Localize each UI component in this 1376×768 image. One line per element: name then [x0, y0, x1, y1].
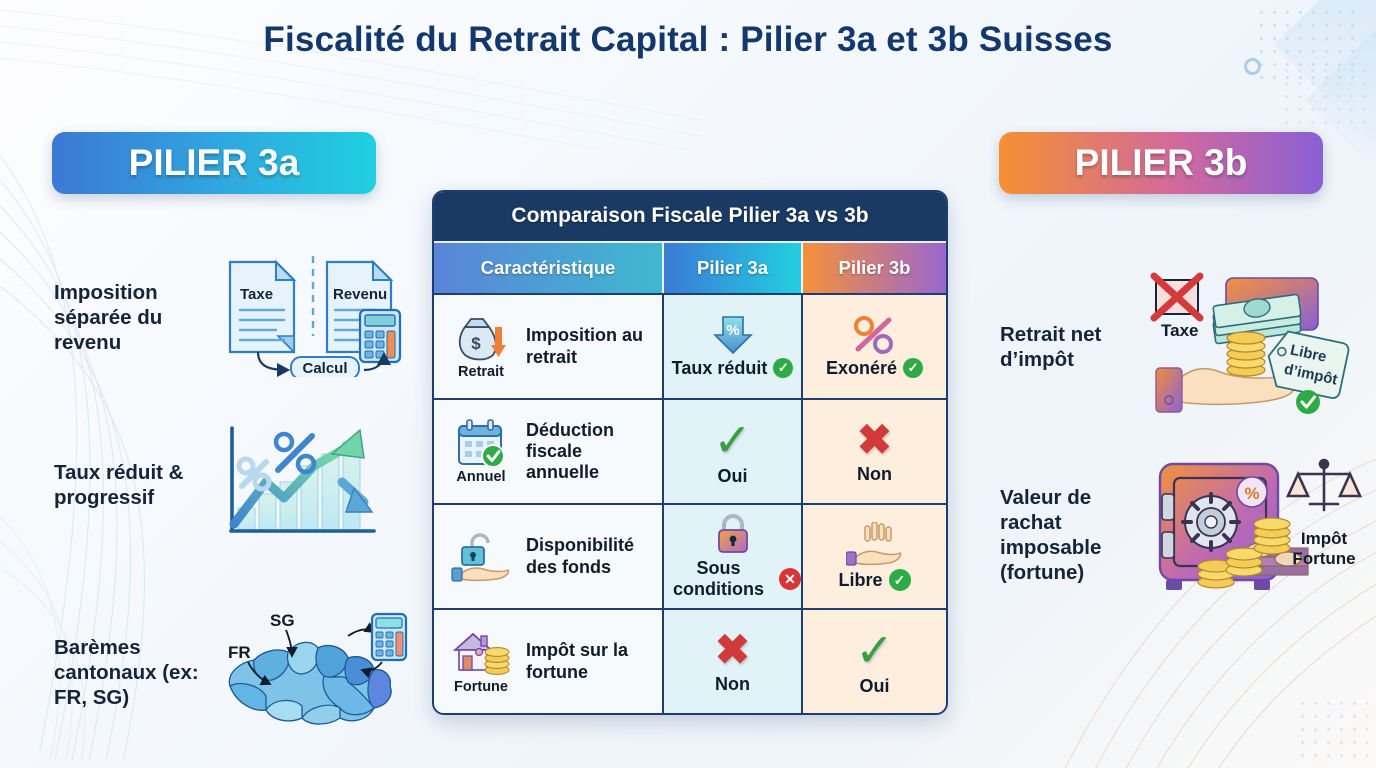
calendar-check-icon: Annuel: [444, 418, 518, 485]
row-4-pilier3b-cell: ✓ Oui: [801, 610, 946, 713]
row-2-feature-label: Déduction fiscale annuelle: [526, 420, 654, 483]
left-feature-1: Imposition séparée du revenu Taxe Revenu: [54, 252, 404, 382]
doc-revenu-label: Revenu: [333, 286, 387, 303]
check-icon: ✓: [773, 358, 793, 378]
row-3-pilier3b-value: Libre: [838, 570, 882, 591]
row-4-pilier3a-cell: ✖ Non: [662, 610, 801, 713]
right-feature-2-label: Valeur de rachat imposable (fortune): [1000, 485, 1148, 585]
left-feature-3: Barèmes cantonaux (ex: FR, SG) FR SG: [54, 600, 414, 745]
cross-icon: ✕: [779, 568, 801, 590]
table-header-row: Caractéristique Pilier 3a Pilier 3b: [434, 241, 946, 293]
column-header-pilier-3a: Pilier 3a: [662, 243, 801, 293]
table-row: Annuel Déduction fiscale annuelle ✓ Oui …: [434, 398, 946, 503]
page-title: Fiscalité du Retrait Capital : Pilier 3a…: [0, 20, 1376, 60]
left-feature-1-label: Imposition séparée du revenu: [54, 280, 214, 355]
cross-icon: ✖: [715, 629, 750, 671]
column-header-pilier-3b: Pilier 3b: [801, 243, 946, 293]
percent-icon: [851, 315, 897, 355]
pillar-3b-badge: PILIER 3b: [999, 132, 1323, 194]
canton-fr-label: FR: [228, 643, 251, 662]
row-1-pilier3b-cell: Exonéré ✓: [801, 295, 946, 398]
doc-taxe-label: Taxe: [240, 286, 273, 303]
table-row: $ Retrait Imposition au retrait % Taux r…: [434, 293, 946, 398]
row-1-pilier3a-value: Taux réduit: [672, 358, 768, 379]
row-2-pilier3b-cell: ✖ Non: [801, 400, 946, 503]
left-feature-2: Taux réduit & progressif: [54, 420, 404, 550]
comparison-table: Comparaison Fiscale Pilier 3a vs 3b Cara…: [432, 190, 948, 715]
check-icon: ✓: [903, 358, 923, 378]
taxe-crossed-label: Taxe: [1161, 321, 1199, 340]
impot-fortune-line1: Impôt: [1301, 529, 1348, 548]
row-2-feature-cell: Annuel Déduction fiscale annuelle: [434, 400, 662, 503]
row-2-pilier3b-value: Non: [857, 464, 892, 485]
down-arrow-percent-icon: %: [709, 315, 757, 355]
open-hand-icon: [846, 522, 902, 566]
house-coins-icon: Fortune: [444, 628, 518, 695]
dot-grid-pattern: [1296, 697, 1368, 759]
check-icon: ✓: [889, 569, 911, 591]
row-2-icon-caption: Annuel: [456, 469, 505, 485]
impot-fortune-line2: Fortune: [1292, 549, 1355, 568]
row-3-feature-label: Disponibilité des fonds: [526, 535, 654, 577]
cross-icon: ✖: [857, 419, 892, 461]
row-1-pilier3a-cell: % Taux réduit ✓: [662, 295, 801, 398]
growth-chart-percent-illustration: [214, 420, 394, 550]
right-feature-2: Valeur de rachat imposable (fortune): [1000, 452, 1365, 617]
row-3-pilier3a-cell: Sous conditions ✕: [662, 505, 801, 608]
right-feature-1: Retrait net d’impôt: [1000, 272, 1360, 422]
row-1-feature-label: Imposition au retrait: [526, 325, 654, 367]
table-row: Disponibilité des fonds Sous conditions …: [434, 503, 946, 608]
left-feature-2-label: Taux réduit & progressif: [54, 460, 214, 510]
swiss-map-calculator-illustration: FR SG: [214, 600, 414, 745]
decorative-circle: [1244, 58, 1261, 75]
row-1-pilier3b-value: Exonéré: [826, 358, 897, 379]
table-title: Comparaison Fiscale Pilier 3a vs 3b: [434, 192, 946, 241]
column-header-caracteristique: Caractéristique: [434, 243, 662, 293]
hand-money-taxfree-illustration: Taxe Libre d’impôt: [1148, 272, 1358, 422]
row-3-pilier3b-cell: Libre ✓: [801, 505, 946, 608]
row-4-icon-caption: Fortune: [454, 679, 508, 695]
row-2-pilier3a-cell: ✓ Oui: [662, 400, 801, 503]
left-feature-3-label: Barèmes cantonaux (ex: FR, SG): [54, 635, 214, 710]
canton-sg-label: SG: [270, 611, 295, 630]
right-feature-1-label: Retrait net d’impôt: [1000, 322, 1148, 372]
calcul-node-label: Calcul: [302, 360, 347, 377]
check-icon: ✓: [713, 417, 752, 463]
percent-symbol: %: [1244, 484, 1259, 503]
safe-coins-scales-illustration: %: [1148, 452, 1363, 617]
closed-lock-icon: [713, 513, 753, 555]
svg-text:%: %: [726, 322, 739, 339]
row-3-pilier3a-value: Sous conditions: [664, 558, 773, 599]
row-4-pilier3a-value: Non: [715, 674, 750, 695]
row-3-feature-cell: Disponibilité des fonds: [434, 505, 662, 608]
two-documents-calculator-illustration: Taxe Revenu: [214, 252, 404, 382]
open-lock-hand-icon: [444, 530, 518, 583]
row-4-pilier3b-value: Oui: [859, 676, 889, 697]
svg-text:$: $: [471, 334, 481, 353]
table-row: Fortune Impôt sur la fortune ✖ Non ✓ Oui: [434, 608, 946, 713]
check-icon: ✓: [855, 627, 894, 673]
row-4-feature-label: Impôt sur la fortune: [526, 640, 654, 682]
row-4-feature-cell: Fortune Impôt sur la fortune: [434, 610, 662, 713]
row-1-icon-caption: Retrait: [458, 364, 504, 380]
row-2-pilier3a-value: Oui: [717, 466, 747, 487]
money-bag-withdraw-icon: $ Retrait: [444, 313, 518, 380]
pillar-3a-badge: PILIER 3a: [52, 132, 376, 194]
dot-grid-pattern: [1280, 64, 1370, 124]
row-1-feature-cell: $ Retrait Imposition au retrait: [434, 295, 662, 398]
